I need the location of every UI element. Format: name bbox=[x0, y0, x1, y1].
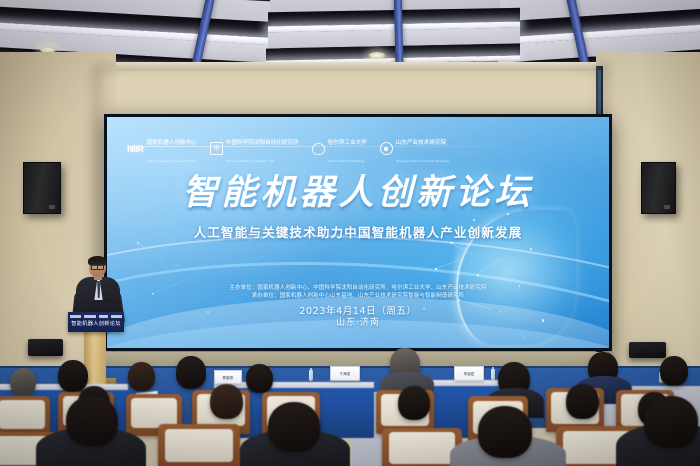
audience-head bbox=[210, 384, 243, 419]
logo-label-cn: 国家机器人创新中心 bbox=[146, 140, 196, 146]
audience-head bbox=[398, 386, 430, 420]
organizer-line-2: 承办单位：国家机器人创新中心山东基地、山东产业技术研究院智能与智能制造研究所 bbox=[107, 292, 609, 300]
wall-speaker-left bbox=[23, 162, 61, 214]
water-bottle bbox=[491, 369, 495, 380]
speaker-glasses bbox=[91, 264, 104, 268]
sdiat-logo-mark bbox=[380, 142, 393, 155]
sia-logo-mark: 中 bbox=[210, 142, 223, 155]
name-card-text: 蔡鹤皋 bbox=[223, 375, 234, 380]
audience-head-front bbox=[268, 402, 320, 452]
audience-head bbox=[246, 364, 273, 393]
floor-speaker-right bbox=[629, 342, 666, 358]
audience-head-front bbox=[644, 396, 698, 448]
logo-label-en: Shandong Institute of Industrial Technol… bbox=[396, 160, 450, 163]
forum-subtitle: 人工智能与关键技术助力中国智能机器人产业创新发展 bbox=[107, 222, 609, 241]
logo-sia: 中 中国科学院沈阳自动化研究所 Shenyang Institute of Au… bbox=[210, 131, 299, 167]
name-card-text: 于海斌 bbox=[340, 371, 351, 376]
audience-head-front bbox=[66, 396, 118, 446]
audience-head bbox=[176, 356, 206, 389]
logo-divider bbox=[127, 146, 493, 147]
led-screen-content: NIIR 国家机器人创新中心 National Innovation Insti… bbox=[107, 117, 609, 348]
podium-logo-strip bbox=[70, 314, 122, 319]
podium-banner-text: 智能机器人创新论坛 bbox=[68, 320, 124, 327]
logo-label-en: Shenyang Institute of Automation, CAS bbox=[226, 160, 275, 163]
event-place: 山东·济南 bbox=[107, 315, 609, 328]
audience-head-front bbox=[478, 406, 532, 458]
name-card: 李贻斌 bbox=[454, 366, 484, 381]
conference-photo: NIIR 国家机器人创新中心 National Innovation Insti… bbox=[0, 0, 700, 466]
wall-speaker-right bbox=[641, 162, 676, 214]
logo-text-block: 国家机器人创新中心 National Innovation Institute … bbox=[146, 131, 196, 167]
audience-head bbox=[566, 384, 599, 419]
audience-chair-front bbox=[158, 424, 240, 466]
ceiling-downlight bbox=[369, 52, 385, 59]
floor-speaker-left bbox=[28, 339, 63, 356]
audience-head bbox=[128, 362, 155, 391]
audience-head bbox=[10, 368, 36, 396]
audience-head bbox=[58, 360, 88, 392]
logo-label-en: Harbin Institute of Technology bbox=[328, 160, 365, 163]
logo-sdiat: 山东产业技术研究院 Shandong Institute of Industri… bbox=[380, 131, 450, 167]
water-bottle bbox=[309, 370, 313, 381]
name-card: 蔡鹤皋 bbox=[214, 370, 242, 384]
forum-title: 智能机器人创新论坛 bbox=[107, 176, 609, 211]
logo-hit: 哈尔滨工业大学 Harbin Institute of Technology bbox=[312, 131, 367, 167]
logo-niir: NIIR 国家机器人创新中心 National Innovation Insti… bbox=[127, 131, 197, 167]
audience-chair bbox=[0, 396, 50, 436]
sponsor-logo-row: NIIR 国家机器人创新中心 National Innovation Insti… bbox=[127, 131, 450, 167]
name-card: 于海斌 bbox=[330, 366, 360, 381]
led-screen: NIIR 国家机器人创新中心 National Innovation Insti… bbox=[104, 114, 612, 351]
logo-text-block: 中国科学院沈阳自动化研究所 Shenyang Institute of Auto… bbox=[226, 131, 299, 167]
organizer-block: 主办单位：国家机器人创新中心、中国科学院沈阳自动化研究所、哈尔滨工业大学、山东产… bbox=[107, 284, 609, 301]
audience-head bbox=[660, 356, 688, 386]
podium-banner: 智能机器人创新论坛 bbox=[68, 312, 124, 332]
name-card-text: 李贻斌 bbox=[464, 371, 475, 376]
hit-logo-mark bbox=[312, 143, 325, 155]
logo-label-en: National Innovation Institute of Robotic… bbox=[146, 160, 196, 163]
logo-label-cn: 山东产业技术研究院 bbox=[396, 140, 446, 146]
logo-label-cn: 中国科学院沈阳自动化研究所 bbox=[226, 140, 299, 146]
logo-label-cn: 哈尔滨工业大学 bbox=[328, 140, 367, 146]
logo-text-block: 哈尔滨工业大学 Harbin Institute of Technology bbox=[328, 131, 367, 167]
organizer-line-1: 主办单位：国家机器人创新中心、中国科学院沈阳自动化研究所、哈尔滨工业大学、山东产… bbox=[107, 284, 609, 292]
logo-text-block: 山东产业技术研究院 Shandong Institute of Industri… bbox=[396, 131, 450, 167]
